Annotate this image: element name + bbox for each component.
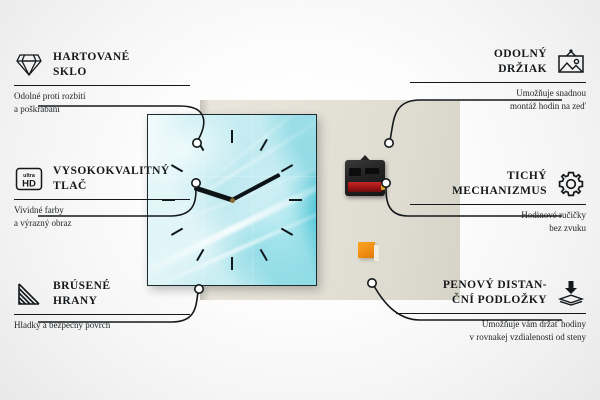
ultra-hd-icon: ultra HD: [14, 164, 44, 194]
feature-title: HARTOVANÉ SKLO: [53, 50, 130, 80]
divider: [14, 314, 190, 315]
feature-ground-edges: BRÚSENÉ HRANY Hladký a bezpečný povrch: [14, 277, 190, 332]
feature-title: VYSOKOKVALITNÝ TLAČ: [53, 164, 170, 194]
feature-description: Odolné proti rozbití a poškrábání: [14, 90, 190, 116]
divider: [14, 199, 190, 200]
bevelled-edge-icon: [14, 279, 44, 309]
spacer-pad-icon: [556, 278, 586, 308]
hour-marker: [232, 199, 302, 201]
feature-description: Vividné farby a výrazný obraz: [14, 204, 190, 230]
feature-description: Hodinové ručičky bez zvuku: [410, 209, 586, 235]
gear-icon: [556, 169, 586, 199]
foam-spacer-pad: [358, 242, 375, 258]
feature-title: ODOLNÝ DRŽIAK: [494, 47, 547, 77]
clock-mechanism: [345, 160, 385, 196]
divider: [396, 313, 586, 314]
feature-title: TICHÝ MECHANIZMUS: [452, 169, 547, 199]
divider: [14, 85, 190, 86]
hour-marker: [231, 200, 233, 270]
divider: [410, 82, 586, 83]
product-infographic: HARTOVANÉ SKLO Odolné proti rozbití a po…: [0, 0, 600, 400]
mechanism-detail: [365, 168, 379, 174]
feature-silent-mechanism: TICHÝ MECHANIZMUS Hodinové ručičky bez z…: [410, 167, 586, 235]
hand-center-cap: [230, 198, 235, 203]
feature-description: Umožňuje vám držať hodiny v rovnakej vzd…: [396, 318, 586, 344]
feature-description: Hladký a bezpečný povrch: [14, 319, 190, 332]
feature-high-quality-print: ultra HD VYSOKOKVALITNÝ TLAČ Vividné far…: [14, 162, 190, 230]
mechanism-detail: [349, 168, 361, 176]
feature-foam-spacers: PENOVÝ DISTAN- ČNÍ PODLOŽKY Umožňuje vám…: [396, 276, 586, 344]
feature-description: Umožňuje snadnou montáž hodin na zeď: [410, 87, 586, 113]
aa-battery: [348, 182, 382, 192]
divider: [410, 204, 586, 205]
picture-hanger-icon: [556, 47, 586, 77]
hour-marker: [231, 130, 233, 200]
diamond-icon: [14, 50, 44, 80]
feature-hardened-glass: HARTOVANÉ SKLO Odolné proti rozbití a po…: [14, 48, 190, 116]
feature-durable-hanger: ODOLNÝ DRŽIAK Umožňuje snadnou montáž ho…: [410, 45, 586, 113]
svg-text:HD: HD: [22, 179, 36, 190]
feature-title: PENOVÝ DISTAN- ČNÍ PODLOŽKY: [443, 278, 547, 308]
feature-title: BRÚSENÉ HRANY: [53, 279, 110, 309]
